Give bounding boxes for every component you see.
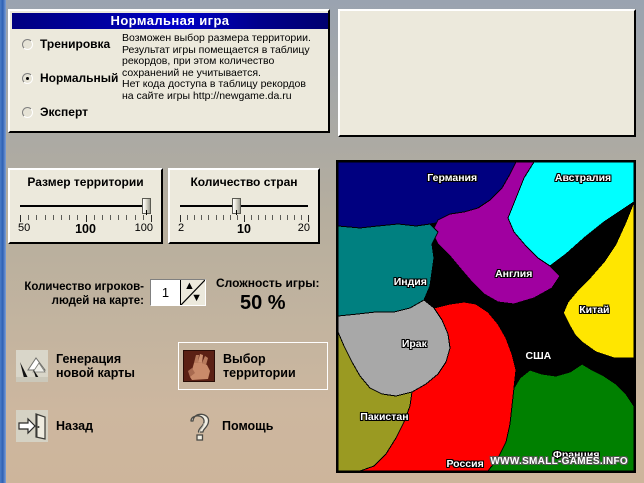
difficulty-value: 50 % (240, 292, 286, 315)
hand-fist-icon (183, 350, 215, 382)
territory-slider-track[interactable] (20, 205, 151, 207)
radio-expert-icon[interactable] (22, 107, 33, 118)
generate-new-map-button[interactable]: Генерация новой карты (12, 346, 143, 386)
human-players-value[interactable]: 1 (151, 280, 180, 305)
radio-training-icon[interactable] (22, 39, 33, 50)
territory-slider-labels: 50 100 100 (18, 222, 153, 238)
country-max-label: 20 (298, 222, 310, 234)
radio-option-expert[interactable]: Эксперт (22, 105, 88, 119)
territory-size-group: Размер территории 50 100 100 (8, 168, 163, 244)
spinner-up-icon[interactable]: ▲ (184, 281, 195, 292)
territory-slider-handle[interactable] (142, 198, 151, 214)
exit-door-icon (16, 410, 48, 442)
spinner-down-icon[interactable]: ▼ (191, 293, 202, 304)
territory-max-label: 100 (135, 222, 153, 234)
game-mode-panel: Нормальная игра Тренировка Нормальный Эк… (8, 9, 330, 133)
generate-line1: Генерация (56, 352, 121, 366)
mode-description-line: Возможен выбор размера территории. (122, 33, 322, 45)
human-players-label: Количество игроков- людей на карте: (14, 280, 144, 308)
radio-normal-label: Нормальный (40, 71, 118, 85)
game-setup-window: Нормальная игра Тренировка Нормальный Эк… (0, 0, 644, 483)
select-territory-button[interactable]: Выбор территории (178, 342, 328, 390)
human-players-label-line2: людей на карте: (14, 294, 144, 308)
info-panel (338, 9, 636, 137)
question-mark-icon (182, 410, 214, 442)
radio-expert-label: Эксперт (40, 105, 88, 119)
country-min-label: 2 (178, 222, 184, 234)
map-landscape-icon (16, 350, 48, 382)
country-mid-label: 10 (237, 222, 251, 236)
back-button[interactable]: Назад (12, 406, 101, 446)
human-players-label-line1: Количество игроков- (14, 280, 144, 294)
territory-line1: Выбор (223, 352, 266, 366)
game-mode-title: Нормальная игра (12, 13, 328, 29)
country-slider-handle[interactable] (232, 198, 241, 214)
human-players-stepper[interactable]: 1 ▲ ▼ (150, 279, 206, 306)
radio-option-normal[interactable]: Нормальный (22, 71, 118, 85)
mode-description-line: на сайте игры http://newgame.da.ru (122, 91, 322, 103)
help-label: Помощь (222, 419, 273, 434)
territory-line2: территории (223, 366, 296, 380)
human-players-spin-buttons[interactable]: ▲ ▼ (180, 280, 205, 305)
generate-new-map-label: Генерация новой карты (56, 352, 135, 381)
territory-min-label: 50 (18, 222, 30, 234)
territory-size-title: Размер территории (10, 175, 161, 189)
territory-mid-label: 100 (75, 222, 96, 236)
country-slider-track[interactable] (180, 205, 308, 207)
window-left-edge (0, 0, 6, 483)
country-slider-labels: 2 10 20 (178, 222, 310, 238)
country-count-title: Количество стран (170, 175, 318, 189)
territory-map-svg[interactable] (338, 162, 634, 471)
back-label: Назад (56, 419, 93, 434)
radio-option-training[interactable]: Тренировка (22, 37, 110, 51)
radio-normal-icon[interactable] (22, 73, 33, 84)
territory-map[interactable]: ГерманияАвстралияАнглияИндияКитайИракСША… (336, 160, 636, 473)
help-button[interactable]: Помощь (178, 406, 281, 446)
difficulty-label: Сложность игры: (216, 276, 319, 290)
country-count-slider[interactable] (180, 198, 308, 214)
select-territory-label: Выбор территории (223, 352, 296, 381)
country-slider-ticks (180, 215, 308, 222)
site-watermark: WWW.SMALL-GAMES.INFO (490, 456, 628, 467)
territory-slider-ticks (20, 215, 151, 222)
mode-description: Возможен выбор размера территории. Резул… (122, 33, 322, 103)
territory-size-slider[interactable] (20, 198, 151, 214)
country-count-group: Количество стран 2 10 20 (168, 168, 320, 244)
generate-line2: новой карты (56, 366, 135, 380)
radio-training-label: Тренировка (40, 37, 110, 51)
game-mode-body: Тренировка Нормальный Эксперт Возможен в… (12, 29, 328, 131)
